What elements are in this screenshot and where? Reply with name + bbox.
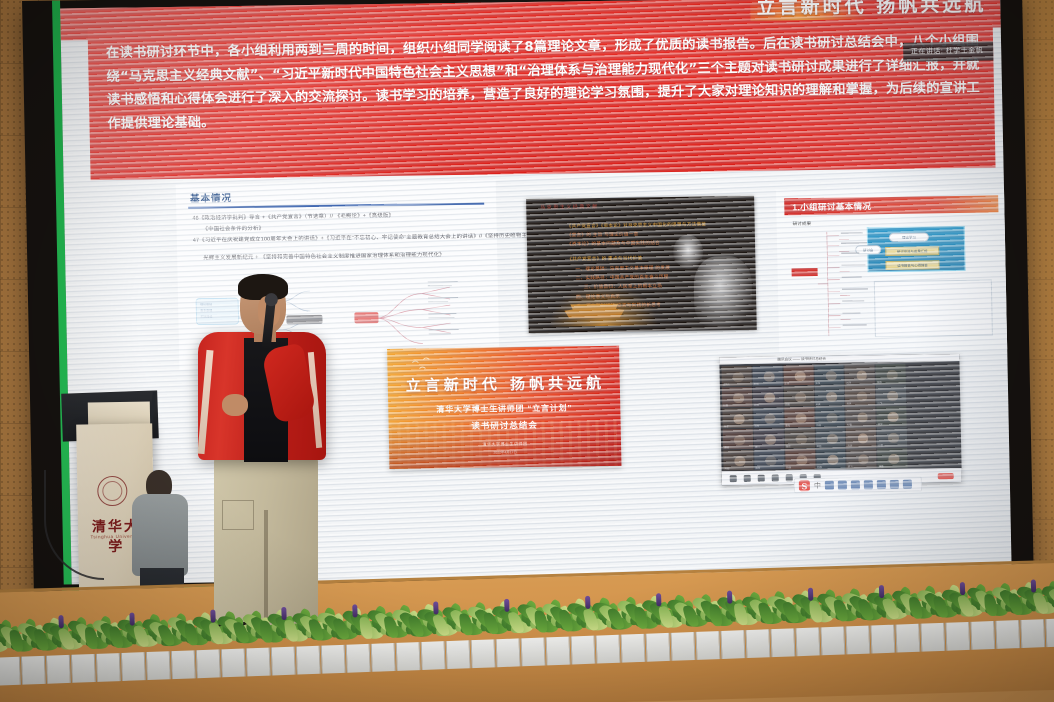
participant-grid[interactable]: 主持人李明王芳张伟刘洋陈静赵磊孙倩周鹏吴昊郑爽冯宇韩雪许可曹阳邓超杜鹏袁梦唐糖秦… bbox=[721, 364, 907, 471]
outline-tree-diagram bbox=[813, 223, 883, 346]
participant-name: 许可 bbox=[754, 424, 759, 428]
participant-name: 张伟 bbox=[815, 381, 820, 385]
right-slide-sublabel: 研讨成果 bbox=[793, 221, 812, 227]
heading-rule bbox=[188, 203, 484, 209]
participant-tile[interactable]: 陈静 bbox=[876, 364, 906, 384]
participant-name: 曹阳 bbox=[785, 423, 790, 427]
participant-tile[interactable]: 蒋丽 bbox=[815, 428, 845, 448]
participant-name: 周鹏 bbox=[785, 402, 790, 406]
slide-event-title[interactable]: 立言新时代 扬帆共远航 清华大学博士生讲师团 “立言计划” 读书研讨总结会 清华… bbox=[387, 346, 621, 469]
red-block-paragraph: 在读书研讨环节中，各小组利用两到三周的时间，组织小组同学阅读了8篇理论文章，形成… bbox=[106, 30, 981, 136]
voice-input-icon[interactable] bbox=[851, 480, 860, 489]
participant-tile[interactable]: 冯宇 bbox=[876, 385, 906, 405]
participant-name: 林峰 bbox=[786, 465, 791, 469]
participant-name: 刘洋 bbox=[846, 380, 851, 384]
participant-tile[interactable]: 曹阳 bbox=[784, 407, 814, 427]
participant-tile[interactable]: 王芳 bbox=[783, 365, 813, 385]
doc-bullet-4: 光辉主义发展新纪元 + 《坚持和完善中国特色社会主义制度推进国家治理体系和治理能… bbox=[203, 251, 445, 262]
meeting-titlebar: 腾讯会议 —— 读书研讨总结会 bbox=[719, 354, 959, 364]
doc-bullet-3: 47《习近平在庆祝建党成立100周年大会上的讲话》+《习近平在“不忘初心、牢记使… bbox=[193, 231, 583, 244]
participant-tile[interactable]: 周鹏 bbox=[784, 386, 814, 406]
meeting-title: 腾讯会议 —— 读书研讨总结会 bbox=[777, 356, 826, 362]
participant-tile[interactable]: 赵磊 bbox=[722, 387, 752, 407]
participant-name: 马超 bbox=[724, 466, 729, 470]
participant-name: 何静 bbox=[817, 465, 822, 469]
participant-name: 韩雪 bbox=[724, 424, 729, 428]
red-text-block: 在读书研讨环节中，各小组利用两到三周的时间，组织小组同学阅读了8篇理论文章，形成… bbox=[88, 17, 996, 180]
dark-slide-line-2: 《宣言》的 主旨 与理论价值一章 bbox=[567, 230, 639, 238]
participant-tile[interactable]: 魏然 bbox=[784, 428, 814, 448]
participant-tile[interactable]: 孙倩 bbox=[753, 386, 783, 406]
menu-icon[interactable] bbox=[903, 480, 912, 489]
svg-text:理论基础: 理论基础 bbox=[200, 301, 212, 306]
participant-name: 袁梦 bbox=[878, 422, 883, 426]
photo-scene: 立言新时代 扬帆共远航 正在讲话: 杜学士金帆 在读书研讨环节中，各小组利用两到… bbox=[0, 0, 1054, 702]
seated-staff-body bbox=[132, 494, 188, 576]
participant-name: 魏然 bbox=[786, 444, 791, 448]
document-heading: 基本情况 bbox=[190, 190, 232, 205]
speaker-cargo-pocket bbox=[222, 500, 254, 530]
portrait-graphic-icon bbox=[673, 235, 704, 269]
participant-name: 沈浩 bbox=[847, 443, 852, 447]
plant-leaves bbox=[1034, 580, 1054, 630]
participant-name: 郑爽 bbox=[847, 401, 852, 405]
birds-icon bbox=[409, 356, 453, 373]
participant-name: 蒋丽 bbox=[817, 444, 822, 448]
participant-tile[interactable]: 秦川 bbox=[754, 428, 784, 448]
ime-toolbar[interactable]: S 中 bbox=[794, 477, 922, 494]
dark-slide-heading: 马克思主义经典文献 bbox=[540, 203, 599, 211]
dark-slide-line-3: 《资本论》的基本问题及与中国实践的结合 bbox=[567, 239, 660, 247]
camera-icon[interactable] bbox=[744, 475, 751, 482]
speaking-indicator-chip: 正在讲话: 杜学士金帆 bbox=[903, 41, 994, 61]
participant-tile[interactable]: 袁梦 bbox=[876, 406, 906, 426]
participants-icon[interactable] bbox=[772, 475, 779, 482]
participant-tile[interactable]: 李明 bbox=[752, 365, 782, 385]
participant-tile[interactable]: 白雪 bbox=[877, 427, 907, 447]
participant-tile[interactable]: 高翔 bbox=[754, 449, 784, 469]
participant-tile[interactable]: 主持人 bbox=[721, 366, 751, 386]
participant-name: 高翔 bbox=[755, 466, 760, 470]
participant-name: 龚磊 bbox=[879, 464, 884, 468]
participant-tile[interactable]: 邓超 bbox=[815, 407, 845, 427]
svg-text:基本原理: 基本原理 bbox=[200, 307, 212, 312]
participant-tile[interactable]: 杜鹏 bbox=[846, 406, 876, 426]
video-meeting-window[interactable]: 腾讯会议 —— 读书研讨总结会 主持人李明王芳张伟刘洋陈静赵磊孙倩周鹏吴昊郑爽冯… bbox=[719, 354, 962, 485]
banner-slogan: 立言新时代 扬帆共远航 bbox=[756, 0, 986, 20]
slide-right-flowchart[interactable]: 1.小组研讨基本情况 研讨成果 理论学习 研讨交流与成果汇报 读书报告与心得体会… bbox=[776, 187, 1011, 352]
participant-tile[interactable]: 沈浩 bbox=[846, 427, 876, 447]
flow-node-3: 读书报告与心得体会 bbox=[885, 260, 939, 270]
dark-slide-line-5: 一、理论基础：马克思主义基本原理 的发展 bbox=[575, 264, 670, 272]
participant-name: 陈静 bbox=[877, 380, 882, 384]
dark-slide-line-6: 二、实践路径：中国共产党的百年奋斗历程 bbox=[576, 273, 669, 281]
right-slide-header-text: 1.小组研讨基本情况 bbox=[792, 200, 871, 213]
participant-name: 赵磊 bbox=[723, 403, 728, 407]
dark-slide-line-1: 《共产党宣言》《资本论》对马克思主义中国化的思想与方法借鉴 bbox=[567, 221, 707, 230]
participant-tile[interactable]: 罗飞 bbox=[846, 448, 876, 468]
participant-name: 邓超 bbox=[816, 423, 821, 427]
right-slide-header: 1.小组研讨基本情况 bbox=[784, 195, 998, 215]
dark-slide-line-4: 《共产党宣言》的 重点与当代价值 bbox=[567, 254, 642, 262]
svg-text:实践路径: 实践路径 bbox=[200, 313, 212, 318]
event-subtitle-1: 清华大学博士生讲师团 “立言计划” bbox=[388, 402, 620, 416]
participant-name: 冯宇 bbox=[877, 401, 882, 405]
participant-name: 吴昊 bbox=[816, 402, 821, 406]
participant-name: 罗飞 bbox=[848, 464, 853, 468]
lower-detail-box bbox=[874, 280, 993, 338]
participant-tile[interactable]: 何静 bbox=[816, 449, 846, 469]
participant-name: 秦川 bbox=[755, 445, 760, 449]
mic-icon[interactable] bbox=[730, 475, 737, 482]
chat-icon[interactable] bbox=[786, 474, 793, 481]
slide-dark-theme[interactable]: 马克思主义经典文献 《共产党宣言》《资本论》对马克思主义中国化的思想与方法借鉴 … bbox=[526, 196, 757, 333]
plant-floret bbox=[352, 604, 357, 617]
statue-graphic-icon bbox=[693, 256, 752, 329]
participant-tile[interactable]: 龚磊 bbox=[877, 448, 907, 468]
speaker-gesturing-hand bbox=[222, 394, 248, 416]
ime-mode-label[interactable]: 中 bbox=[814, 481, 821, 490]
sogou-logo-icon[interactable]: S bbox=[799, 480, 810, 491]
participant-name: 李明 bbox=[754, 382, 759, 386]
participant-name: 王芳 bbox=[784, 381, 789, 385]
toolbox-icon[interactable] bbox=[890, 480, 899, 489]
participant-tile[interactable]: 韩雪 bbox=[722, 408, 752, 428]
leave-meeting-button[interactable] bbox=[938, 473, 954, 479]
participant-tile[interactable]: 吴昊 bbox=[814, 386, 844, 406]
event-title-main: 立言新时代 扬帆共远航 bbox=[406, 372, 606, 396]
flow-node-2: 研讨交流与成果汇报 bbox=[885, 246, 939, 256]
participant-name: 孙倩 bbox=[754, 403, 759, 407]
doc-bullet-1: 46《政治经济学批判》导言 +《共产党宣言》（节选章）// 《毛概论》+《高级版… bbox=[192, 212, 394, 223]
participant-tile[interactable]: 马超 bbox=[723, 450, 753, 470]
participant-tile[interactable]: 郑爽 bbox=[845, 385, 875, 405]
participant-name: 唐糖 bbox=[724, 445, 729, 449]
emoji-icon[interactable] bbox=[838, 481, 847, 490]
participant-tile[interactable]: 张伟 bbox=[814, 365, 844, 385]
participant-tile[interactable]: 许可 bbox=[753, 407, 783, 427]
plant-floret bbox=[727, 591, 732, 604]
screenshot-icon[interactable] bbox=[864, 480, 873, 489]
led-screen-surface[interactable]: 立言新时代 扬帆共远航 正在讲话: 杜学士金帆 在读书研讨环节中，各小组利用两到… bbox=[60, 0, 1011, 584]
participant-name: 主持人 bbox=[723, 382, 730, 386]
participant-tile[interactable]: 林峰 bbox=[785, 449, 815, 469]
participant-name: 白雪 bbox=[878, 443, 883, 447]
keyboard-icon[interactable] bbox=[825, 481, 834, 490]
participant-tile[interactable]: 唐糖 bbox=[723, 429, 753, 449]
participant-name: 杜鹏 bbox=[847, 422, 852, 426]
flow-node-1: 理论学习 bbox=[889, 232, 929, 242]
translate-icon[interactable] bbox=[877, 480, 886, 489]
share-screen-icon[interactable] bbox=[758, 475, 765, 482]
participant-tile[interactable]: 刘洋 bbox=[845, 364, 875, 384]
doc-bullet-2: 《中国社会条件的分析》 bbox=[203, 225, 265, 234]
